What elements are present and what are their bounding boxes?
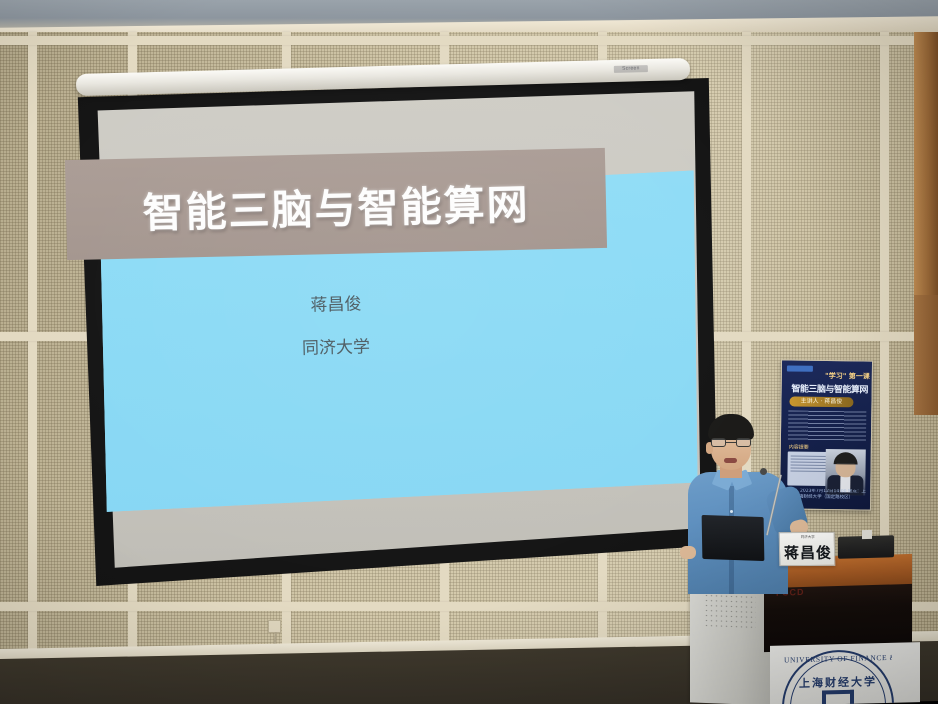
glasses-bridge <box>726 442 736 443</box>
speaker-hair <box>708 414 754 440</box>
nameplate-name: 蒋昌俊 <box>780 542 836 563</box>
slide-title: 智能三脑与智能算网 <box>63 154 609 256</box>
glasses-lens-right <box>736 438 751 447</box>
speaker-glasses-icon <box>711 438 751 447</box>
seal-chinese-text: 上海财经大学 <box>784 673 892 692</box>
glasses-lens-left <box>711 438 726 447</box>
podium-device-knob[interactable] <box>862 530 872 539</box>
poster-headline: 智能三脑与智能算网 <box>790 381 870 395</box>
laptop[interactable] <box>702 515 765 561</box>
wall-panel-strip <box>28 32 37 652</box>
poster-body-text <box>788 410 866 441</box>
poster-card-line <box>791 456 827 458</box>
seal-emblem-mark <box>822 690 854 704</box>
poster-series-label: "学习" 第一课 <box>810 371 870 382</box>
lecture-hall-photo: Screen 智能三脑与智能算网 蒋昌俊 同济大学 "学习" 第一课 智能三脑与… <box>0 0 938 704</box>
speaker-mouth <box>724 458 737 463</box>
poster-card-line <box>791 468 827 470</box>
poster-speaker-row: 主讲人 · 蒋昌俊 <box>789 396 853 407</box>
microphone-head-icon <box>760 468 767 475</box>
wall-panel-strip <box>0 36 938 45</box>
speaker-left-hand <box>680 546 696 559</box>
roller-brand-logo: Screen <box>614 65 648 73</box>
shirt-button <box>730 510 733 513</box>
door-frame-lower <box>914 295 938 415</box>
nameplate-organization: 同济大学 <box>784 535 832 540</box>
door-frame <box>914 32 938 302</box>
podium-seal-panel: UNIVERSITY OF FINANCE & 上海财经大学 <box>770 642 920 704</box>
poster-card-line <box>790 471 826 473</box>
poster-card-line <box>791 459 827 461</box>
slide-affiliation: 同济大学 <box>236 331 437 361</box>
seal-english-text: UNIVERSITY OF FINANCE & <box>784 653 892 665</box>
poster-card-line <box>791 465 827 467</box>
poster-card-line <box>791 462 827 464</box>
speaker-nameplate: 同济大学 蒋昌俊 <box>779 532 836 566</box>
speaker-person <box>684 414 794 594</box>
portrait-glasses-icon <box>837 463 855 467</box>
slide-speaker-name: 蒋昌俊 <box>236 288 437 318</box>
